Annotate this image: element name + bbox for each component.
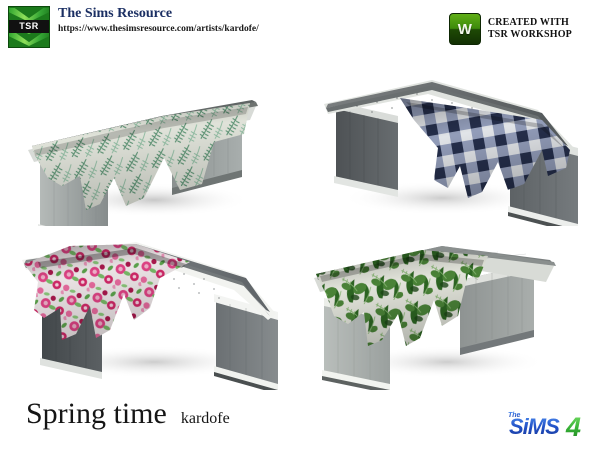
tsr-workshop-letter: W (458, 22, 472, 37)
created-with-text: CREATED WITH TSR WORKSHOP (488, 17, 572, 41)
tsr-logo-icon: TSR (8, 6, 50, 48)
sims4-sims-text: SiMS (509, 414, 560, 439)
table-fern-green (4, 58, 294, 226)
tsr-workshop-w-icon: W (449, 13, 481, 45)
tsr-logo-text: TSR (19, 22, 39, 31)
site-url[interactable]: https://www.thesimsresource.com/artists/… (58, 23, 259, 36)
tsr-chevron-bottom (9, 32, 49, 46)
created-with-badge: W CREATED WITH TSR WORKSHOP (449, 13, 572, 45)
pack-title-block: Spring time kardofe (26, 398, 230, 430)
creator-name: kardofe (181, 410, 230, 428)
table-gingham-navy (302, 58, 592, 226)
created-with-line1: CREATED WITH (488, 17, 572, 29)
sims4-number-text: 4 (565, 412, 581, 440)
site-branding: TSR The Sims Resource https://www.thesim… (8, 6, 259, 48)
table-tropical-monstera (302, 222, 592, 390)
table-floral-pink (4, 222, 294, 390)
sims4-logo-icon: The SiMS 4 (506, 404, 592, 440)
created-with-line2: TSR WORKSHOP (488, 29, 572, 41)
site-text-block: The Sims Resource https://www.thesimsres… (58, 6, 259, 36)
tsr-logo-bar: TSR (9, 20, 49, 33)
site-title: The Sims Resource (58, 6, 259, 21)
pack-name: Spring time (26, 398, 167, 430)
screenshot-canvas: TSR The Sims Resource https://www.thesim… (0, 0, 600, 450)
